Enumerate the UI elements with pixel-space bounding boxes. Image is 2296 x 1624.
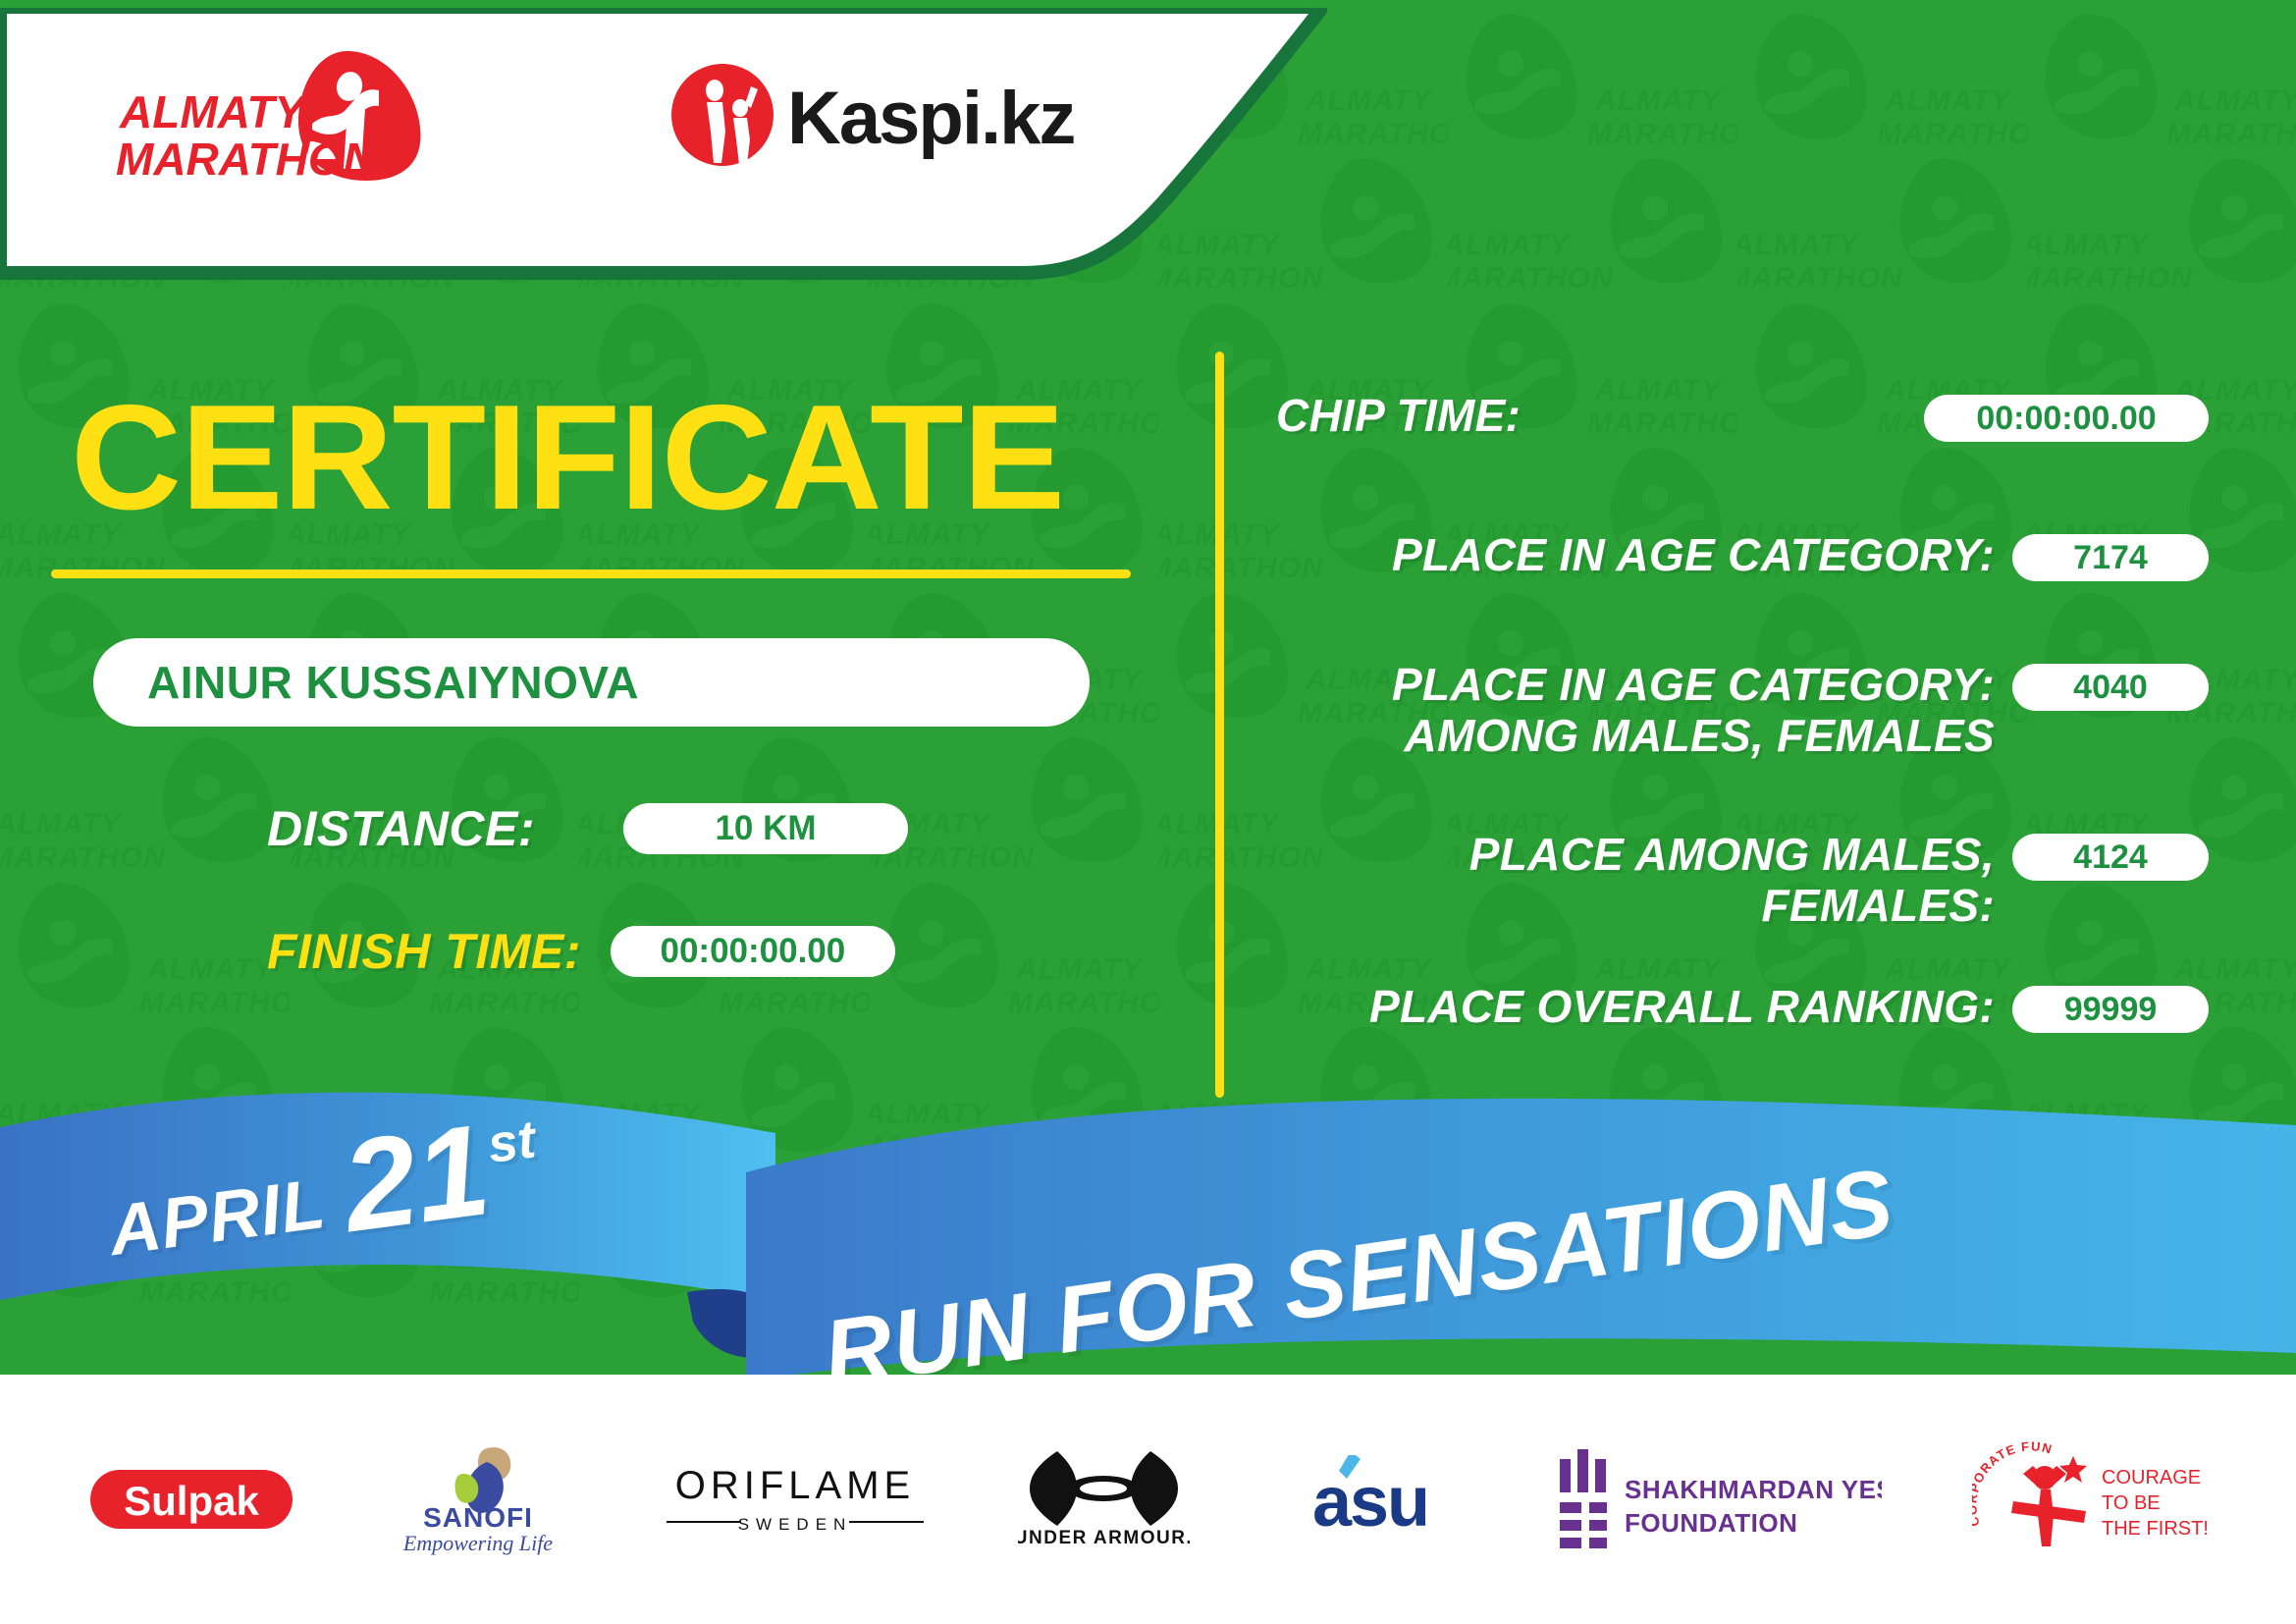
courage-line3: THE FIRST! bbox=[2102, 1518, 2208, 1540]
shakhmardan-yessenov-foundation-logo: SHAKHMARDAN YESSENOV FOUNDATION bbox=[1558, 1445, 1882, 1553]
stat-row-place-among-males-females: PLACE AMONG MALES,FEMALES: 4124 bbox=[1276, 830, 2209, 931]
stat-label: PLACE OVERALL RANKING: bbox=[1276, 982, 1995, 1033]
stat-value: 99999 bbox=[2012, 986, 2209, 1033]
under-armour-text: UNDER ARMOUR. bbox=[1018, 1528, 1190, 1548]
corporate-fund-courage-to-be-the-first-logo: CORPORATE FUND COURAGE TO BE THE FIRST! bbox=[1972, 1440, 2208, 1558]
stat-row-place-in-age-category: PLACE IN AGE CATEGORY: 7174 bbox=[1276, 530, 2209, 581]
finish-time-value: 00:00:00.00 bbox=[611, 926, 895, 977]
finish-time-label: FINISH TIME: bbox=[267, 923, 581, 980]
event-day-ordinal: st bbox=[484, 1109, 539, 1175]
stat-value: 4124 bbox=[2012, 834, 2209, 881]
almaty-marathon-logo: ALMATY MARATHON bbox=[116, 47, 450, 185]
stat-value: 7174 bbox=[2012, 534, 2209, 581]
stat-row-place-in-age-category-among-males-females: PLACE IN AGE CATEGORY:AMONG MALES, FEMAL… bbox=[1276, 660, 2209, 761]
svg-text:ALMATY: ALMATY bbox=[119, 86, 309, 137]
oriflame-logo: ORIFLAME SWEDEN bbox=[663, 1455, 928, 1543]
stat-label: PLACE AMONG MALES,FEMALES: bbox=[1276, 830, 1995, 931]
stat-value: 4040 bbox=[2012, 664, 2209, 711]
distance-label: DISTANCE: bbox=[267, 800, 535, 857]
sanofi-logo: SANOFI Empowering Life bbox=[385, 1440, 571, 1558]
foundation-line2: FOUNDATION bbox=[1625, 1508, 1797, 1538]
courage-line2: TO BE bbox=[2102, 1492, 2161, 1514]
stat-row-place-overall-ranking: PLACE OVERALL RANKING: 99999 bbox=[1276, 982, 2209, 1033]
header-panel: ALMATY MARATHON Kaspi.kz bbox=[0, 0, 1394, 295]
asu-text: asu bbox=[1312, 1463, 1428, 1542]
sulpak-logo: Sulpak bbox=[88, 1458, 294, 1541]
title-underline bbox=[51, 569, 1131, 578]
sponsor-strip: Sulpak SANOFI Empowering Life ORIFLAME S… bbox=[0, 1375, 2296, 1624]
distance-value: 10 KM bbox=[623, 803, 908, 854]
foundation-line1: SHAKHMARDAN YESSENOV bbox=[1625, 1475, 1882, 1504]
stat-label: PLACE IN AGE CATEGORY:AMONG MALES, FEMAL… bbox=[1276, 660, 1995, 761]
stat-value: 00:00:00.00 bbox=[1924, 395, 2209, 442]
kaspi-logo: Kaspi.kz bbox=[667, 61, 1080, 169]
vertical-divider bbox=[1215, 352, 1224, 1098]
event-day: 21 bbox=[337, 1110, 495, 1247]
sanofi-text: SANOFI bbox=[423, 1502, 533, 1533]
svg-text:MARATHON: MARATHON bbox=[116, 134, 377, 185]
oriflame-tagline: SWEDEN bbox=[737, 1515, 852, 1534]
sanofi-tagline: Empowering Life bbox=[402, 1531, 553, 1555]
participant-name-value: AINUR KUSSAIYNOVA bbox=[147, 656, 639, 709]
stat-label: CHIP TIME: bbox=[1276, 391, 1906, 442]
stat-label: PLACE IN AGE CATEGORY: bbox=[1276, 530, 1995, 581]
page-title: CERTIFICATE bbox=[71, 383, 1064, 532]
courage-line1: COURAGE bbox=[2102, 1467, 2201, 1489]
finish-time-row: FINISH TIME: 00:00:00.00 bbox=[267, 923, 895, 980]
oriflame-text: ORIFLAME bbox=[674, 1464, 914, 1507]
participant-name-field: AINUR KUSSAIYNOVA bbox=[93, 638, 1090, 727]
asu-logo: asu bbox=[1280, 1455, 1467, 1543]
stat-row-chip-time: CHIP TIME: 00:00:00.00 bbox=[1276, 391, 2209, 442]
certificate-page: ALMATY MARATHON ALMATY MARATHON bbox=[0, 0, 2296, 1624]
svg-text:Kaspi.kz: Kaspi.kz bbox=[787, 77, 1074, 160]
under-armour-logo: UNDER ARMOUR. bbox=[1018, 1445, 1190, 1553]
sulpak-text: Sulpak bbox=[124, 1478, 259, 1524]
distance-row: DISTANCE: 10 KM bbox=[267, 800, 908, 857]
